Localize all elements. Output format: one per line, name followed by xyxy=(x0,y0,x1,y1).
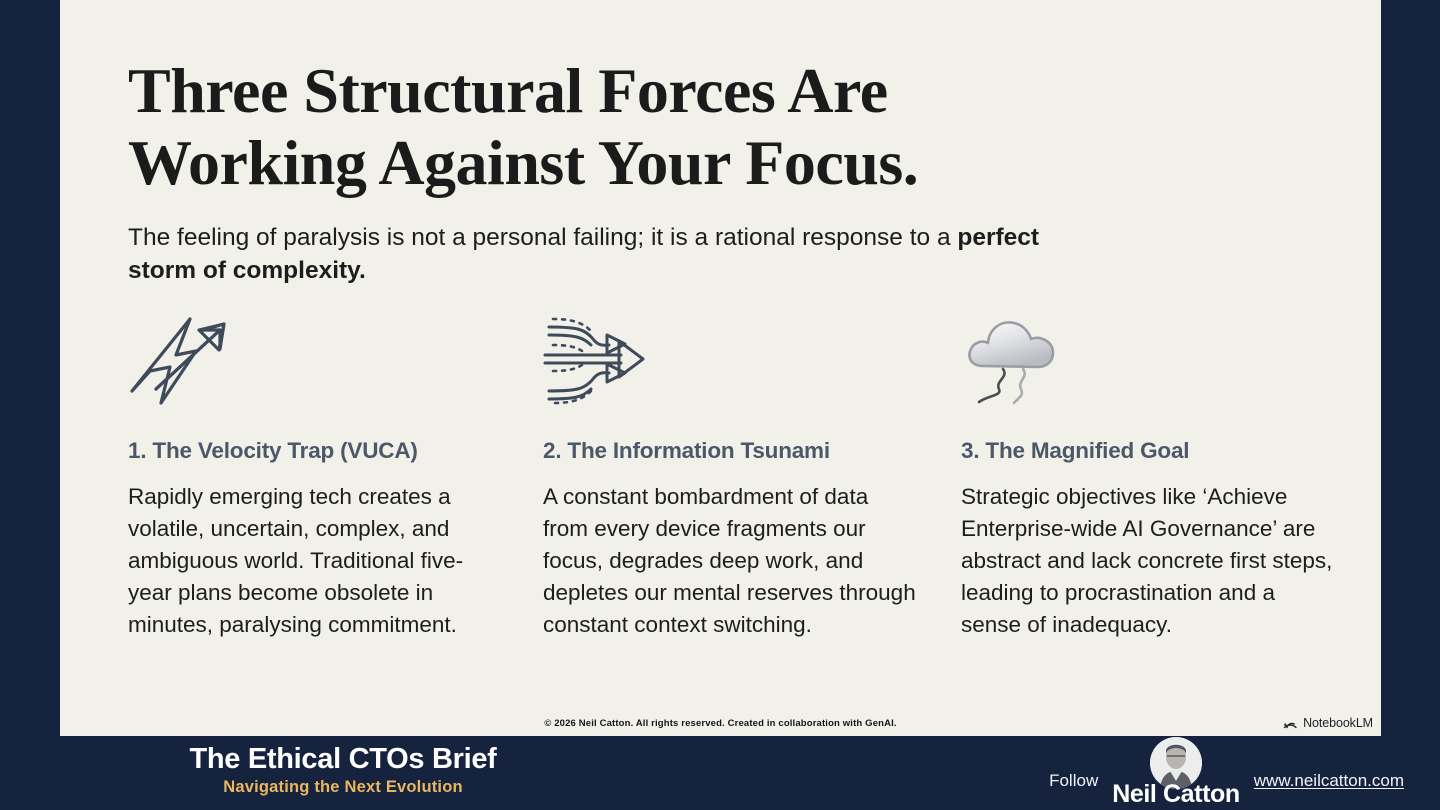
page-title: Three Structural Forces Are Working Agai… xyxy=(128,55,1308,198)
force-heading-1: 1. The Velocity Trap (VUCA) xyxy=(128,437,499,464)
force-column-2: 2. The Information Tsunami A constant bo… xyxy=(543,305,961,641)
slide-subtitle: The feeling of paralysis is not a person… xyxy=(128,222,1068,287)
force-body-1: Rapidly emerging tech creates a volatile… xyxy=(128,481,499,641)
force-heading-2: 2. The Information Tsunami xyxy=(543,437,917,464)
force-column-1: 1. The Velocity Trap (VUCA) Rapidly emer… xyxy=(128,305,543,641)
lightning-bolt-arrow-icon xyxy=(128,305,499,413)
brand-title: The Ethical CTOs Brief xyxy=(162,743,524,776)
force-column-3: 3. The Magnified Goal Strategic objectiv… xyxy=(961,305,1378,641)
force-heading-3: 3. The Magnified Goal xyxy=(961,437,1334,464)
author-name: Neil Catton xyxy=(1112,780,1240,809)
storm-cloud-icon xyxy=(961,305,1334,413)
copyright-notice: © 2026 Neil Catton. All rights reserved.… xyxy=(60,718,1381,729)
brand-block: The Ethical CTOs Brief Navigating the Ne… xyxy=(162,743,524,797)
notebooklm-icon xyxy=(1283,717,1298,729)
author-group: Neil Catton xyxy=(1112,737,1240,809)
notebooklm-label: NotebookLM xyxy=(1303,716,1373,730)
forces-column-group: 1. The Velocity Trap (VUCA) Rapidly emer… xyxy=(128,305,1378,641)
brand-tagline: Navigating the Next Evolution xyxy=(162,778,524,797)
force-body-2: A constant bombardment of data from ever… xyxy=(543,481,917,641)
follow-block: Follow Neil Catton www.neilcatton.com xyxy=(1049,736,1404,810)
follow-label: Follow xyxy=(1049,755,1098,791)
notebooklm-badge: NotebookLM xyxy=(1283,716,1373,730)
website-link[interactable]: www.neilcatton.com xyxy=(1254,755,1404,791)
slide-card: Three Structural Forces Are Working Agai… xyxy=(60,0,1381,736)
bottom-brand-bar: The Ethical CTOs Brief Navigating the Ne… xyxy=(0,736,1440,810)
subtitle-lead-text: The feeling of paralysis is not a person… xyxy=(128,224,957,251)
converging-arrows-icon xyxy=(543,305,917,413)
slide-content-area: Three Structural Forces Are Working Agai… xyxy=(128,0,1381,736)
force-body-3: Strategic objectives like ‘Achieve Enter… xyxy=(961,481,1334,641)
